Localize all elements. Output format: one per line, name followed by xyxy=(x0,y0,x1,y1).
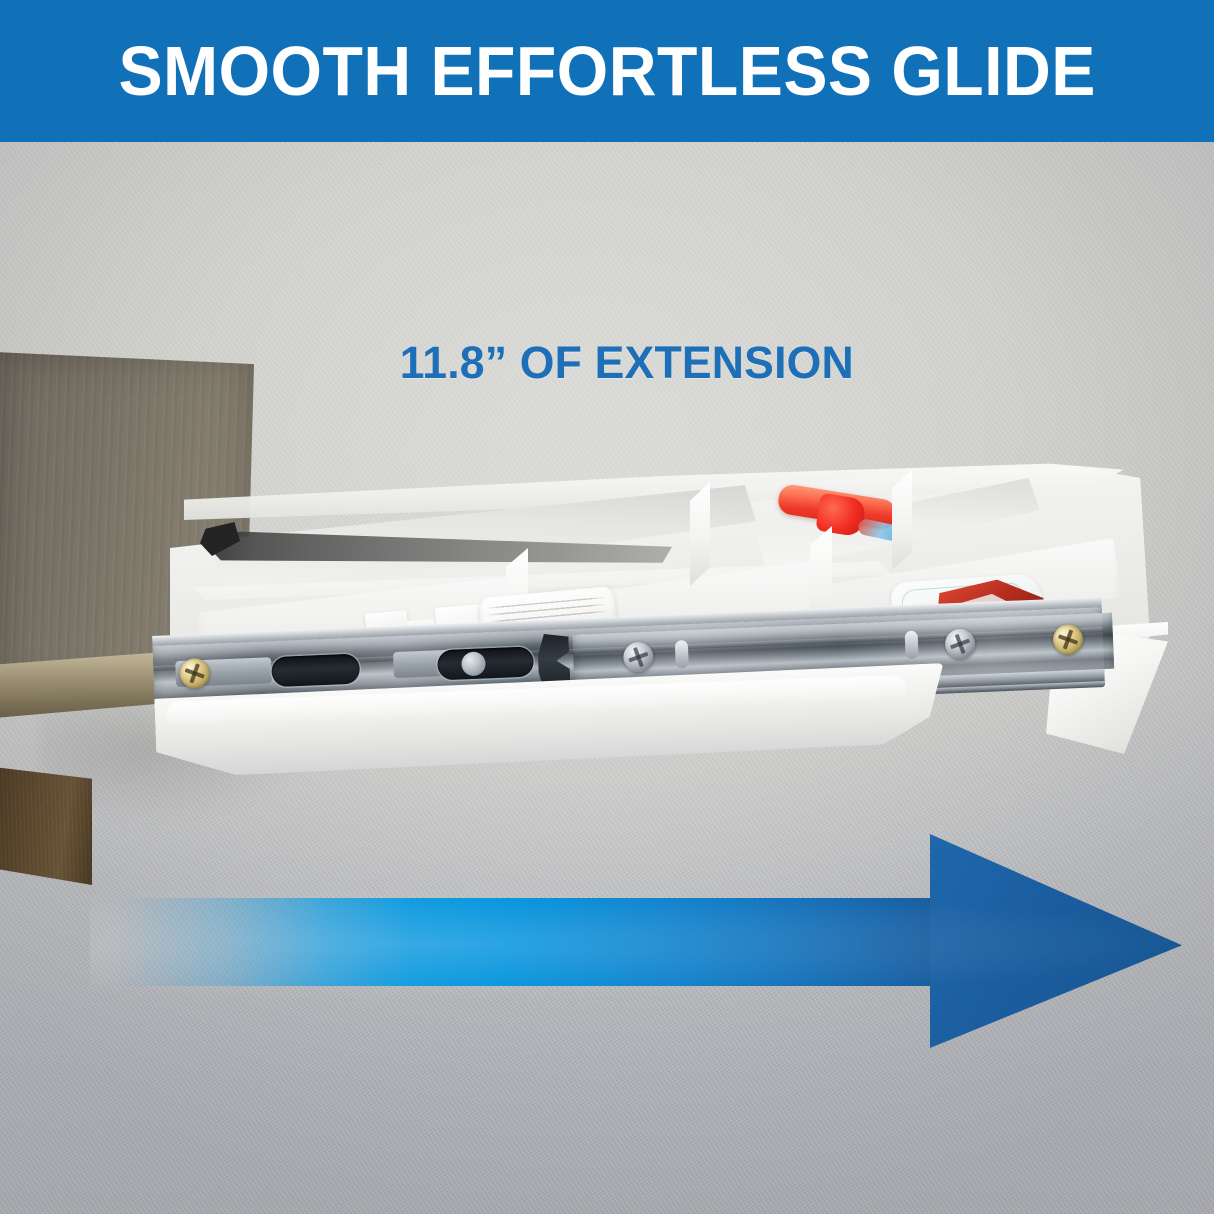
header-banner: SMOOTH EFFORTLESS GLIDE xyxy=(0,0,1214,142)
banner-title: SMOOTH EFFORTLESS GLIDE xyxy=(118,36,1095,106)
product-marketing-image: SMOOTH EFFORTLESS GLIDE 11.8” OF EXTENSI… xyxy=(0,0,1214,1214)
rail-oval-slot-1 xyxy=(271,654,360,688)
rail-detent-pin-1 xyxy=(675,640,689,669)
arrow-head xyxy=(930,834,1182,1048)
slide-out-drawer-organizer xyxy=(150,430,1160,770)
rail-detent-pin-2 xyxy=(905,631,919,660)
arrow-shaft xyxy=(112,898,940,986)
direction-arrow xyxy=(0,810,1214,1060)
extension-callout-text: 11.8” OF EXTENSION xyxy=(6,337,1208,389)
